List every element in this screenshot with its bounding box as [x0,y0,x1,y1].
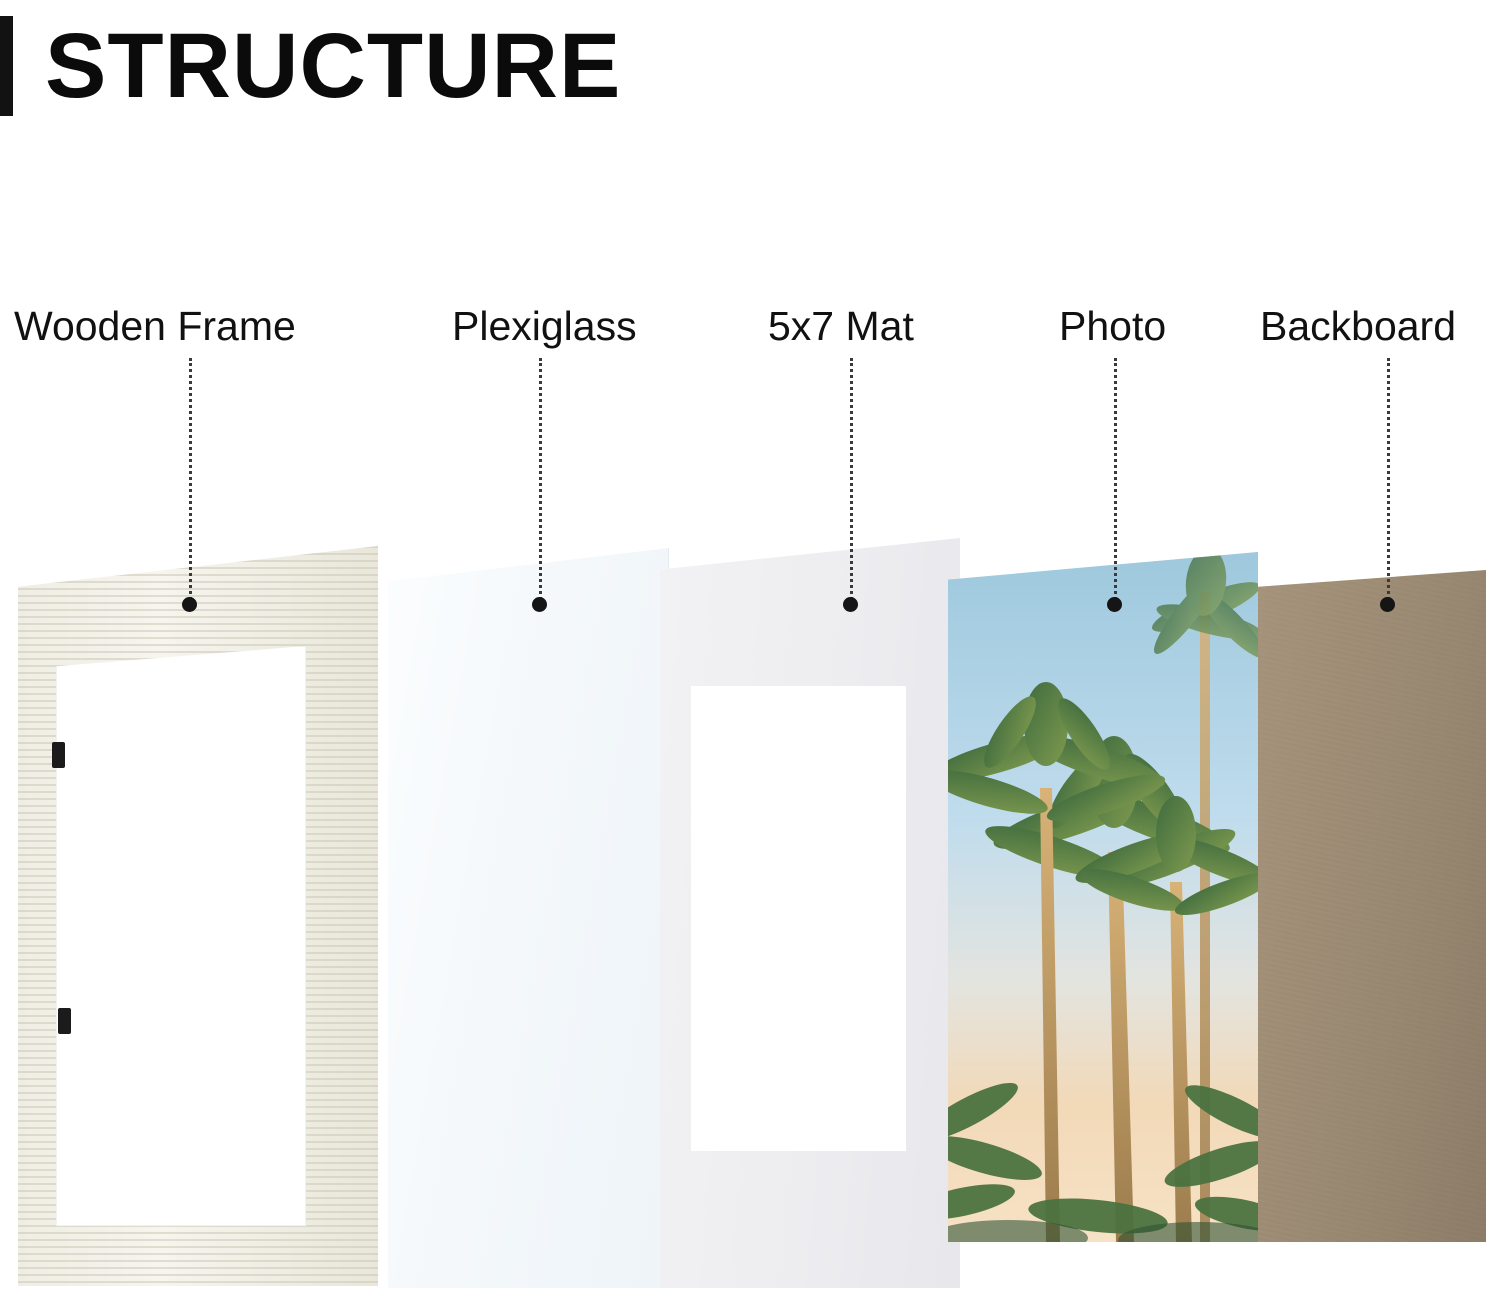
leader-dot-mat [843,597,858,612]
mat-window-opening [691,686,906,1151]
part-mat [660,538,960,1288]
leader-line-backboard [1387,358,1390,606]
backboard-texture [1258,570,1486,1242]
leader-dot-wooden-frame [182,597,197,612]
label-wooden-frame: Wooden Frame [14,306,296,347]
leader-line-wooden-frame [189,358,192,606]
frame-clip-top [52,742,65,768]
photo-palm-trees-image [948,552,1258,1242]
part-backboard [1258,570,1486,1242]
part-wooden-frame [18,546,378,1286]
label-mat: 5x7 Mat [768,306,914,347]
frame-clip-bottom [58,1008,71,1034]
part-plexiglass [388,548,669,1288]
label-plexiglass: Plexiglass [452,306,637,347]
label-backboard: Backboard [1260,306,1456,347]
leader-dot-photo [1107,597,1122,612]
wooden-frame-opening [56,646,306,1226]
leader-line-photo [1114,358,1117,606]
label-photo: Photo [1059,306,1166,347]
leader-dot-backboard [1380,597,1395,612]
leader-dot-plexiglass [532,597,547,612]
exploded-diagram [0,0,1500,1306]
leader-line-mat [850,358,853,606]
leader-line-plexiglass [539,358,542,606]
part-photo [948,552,1258,1242]
